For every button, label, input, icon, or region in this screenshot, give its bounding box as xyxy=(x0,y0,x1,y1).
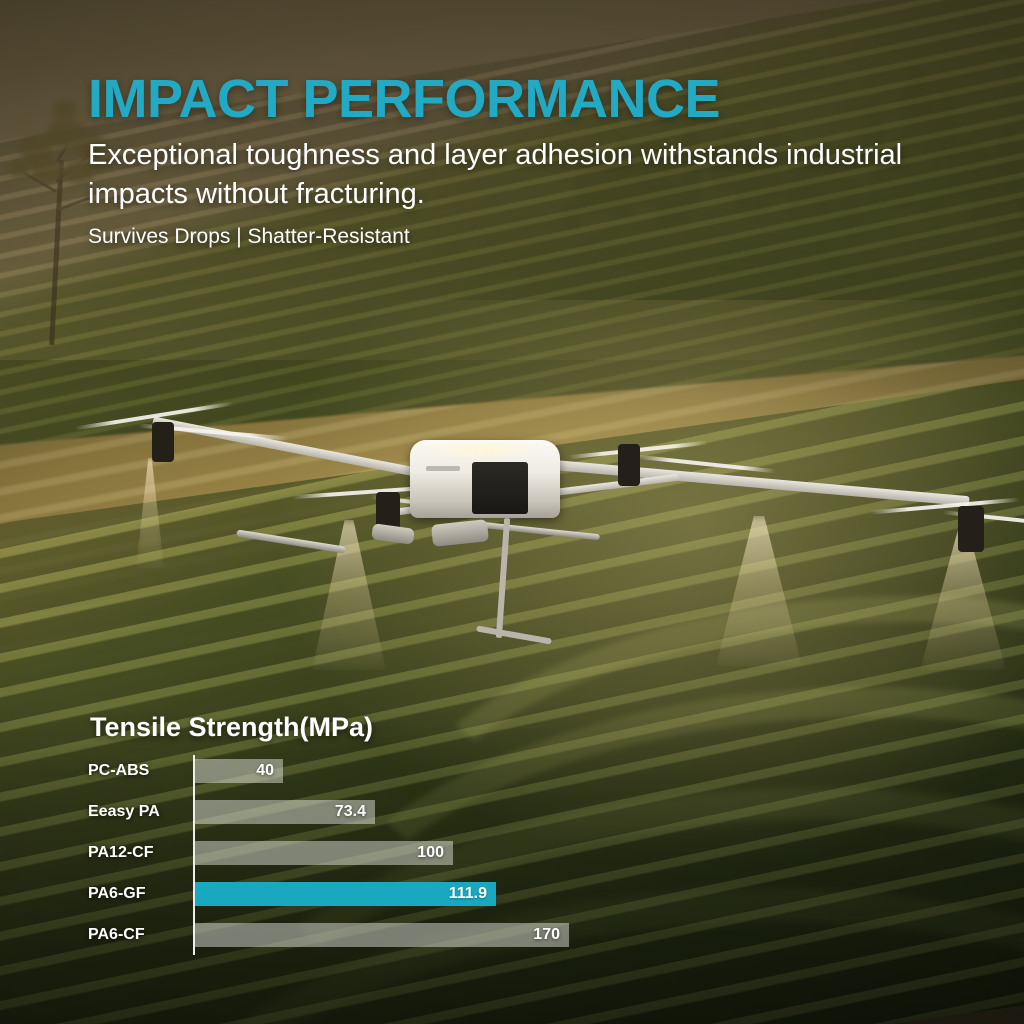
chart-bar-value: 111.9 xyxy=(449,885,496,903)
rotor-motor xyxy=(152,422,174,462)
chart-title: Tensile Strength(MPa) xyxy=(90,712,608,743)
chart-bar-row: PA6-GF111.9 xyxy=(88,882,608,923)
chart-plot-area: PC-ABS40Eeasy PA73.4PA12-CF100PA6-GF111.… xyxy=(88,759,608,964)
tree-foliage xyxy=(8,160,30,178)
spray-tank xyxy=(431,519,489,547)
chart-bar-value: 100 xyxy=(417,844,453,862)
nozzle-arm xyxy=(480,522,600,541)
chart-bar: 40 xyxy=(195,759,283,783)
chart-category-label: Eeasy PA xyxy=(88,803,186,821)
nozzle-arm xyxy=(236,529,346,553)
promo-poster: IMPACT PERFORMANCE Exceptional toughness… xyxy=(0,0,1024,1024)
tree-foliage xyxy=(32,158,62,182)
fuselage-hatch xyxy=(472,462,528,514)
drone-fuselage xyxy=(410,440,560,518)
chart-bar: 170 xyxy=(195,923,569,947)
chart-bar-highlighted: 111.9 xyxy=(195,882,496,906)
spray-drone xyxy=(80,400,980,660)
chart-category-label: PA12-CF xyxy=(88,844,186,862)
page-subtitle: Exceptional toughness and layer adhesion… xyxy=(88,136,918,213)
chart-bar-value: 40 xyxy=(256,762,283,780)
page-tagline: Survives Drops | Shatter-Resistant xyxy=(88,225,410,249)
chart-category-label: PA6-GF xyxy=(88,885,186,903)
chart-bar-row: PC-ABS40 xyxy=(88,759,608,800)
landing-leg xyxy=(496,518,510,638)
chart-bar-value: 73.4 xyxy=(335,803,375,821)
tree-foliage xyxy=(52,100,78,120)
chart-bar-value: 170 xyxy=(533,926,569,944)
chart-bar: 100 xyxy=(195,841,453,865)
chart-bar: 73.4 xyxy=(195,800,375,824)
chart-category-label: PC-ABS xyxy=(88,762,186,780)
spray-plume xyxy=(716,516,802,666)
spray-tank xyxy=(371,523,415,545)
rotor-motor xyxy=(618,444,640,486)
page-title: IMPACT PERFORMANCE xyxy=(88,68,720,130)
fuselage-highlight xyxy=(418,444,544,456)
tensile-strength-chart: Tensile Strength(MPa) PC-ABS40Eeasy PA73… xyxy=(88,712,608,972)
fuselage-vent xyxy=(426,466,460,471)
landing-skid xyxy=(476,625,552,644)
chart-bar-row: PA12-CF100 xyxy=(88,841,608,882)
chart-bar-row: PA6-CF170 xyxy=(88,923,608,964)
chart-bar-row: Eeasy PA73.4 xyxy=(88,800,608,841)
chart-category-label: PA6-CF xyxy=(88,926,186,944)
spray-plume xyxy=(136,458,164,568)
rotor-motor xyxy=(958,506,984,552)
tree-branch xyxy=(57,196,90,210)
